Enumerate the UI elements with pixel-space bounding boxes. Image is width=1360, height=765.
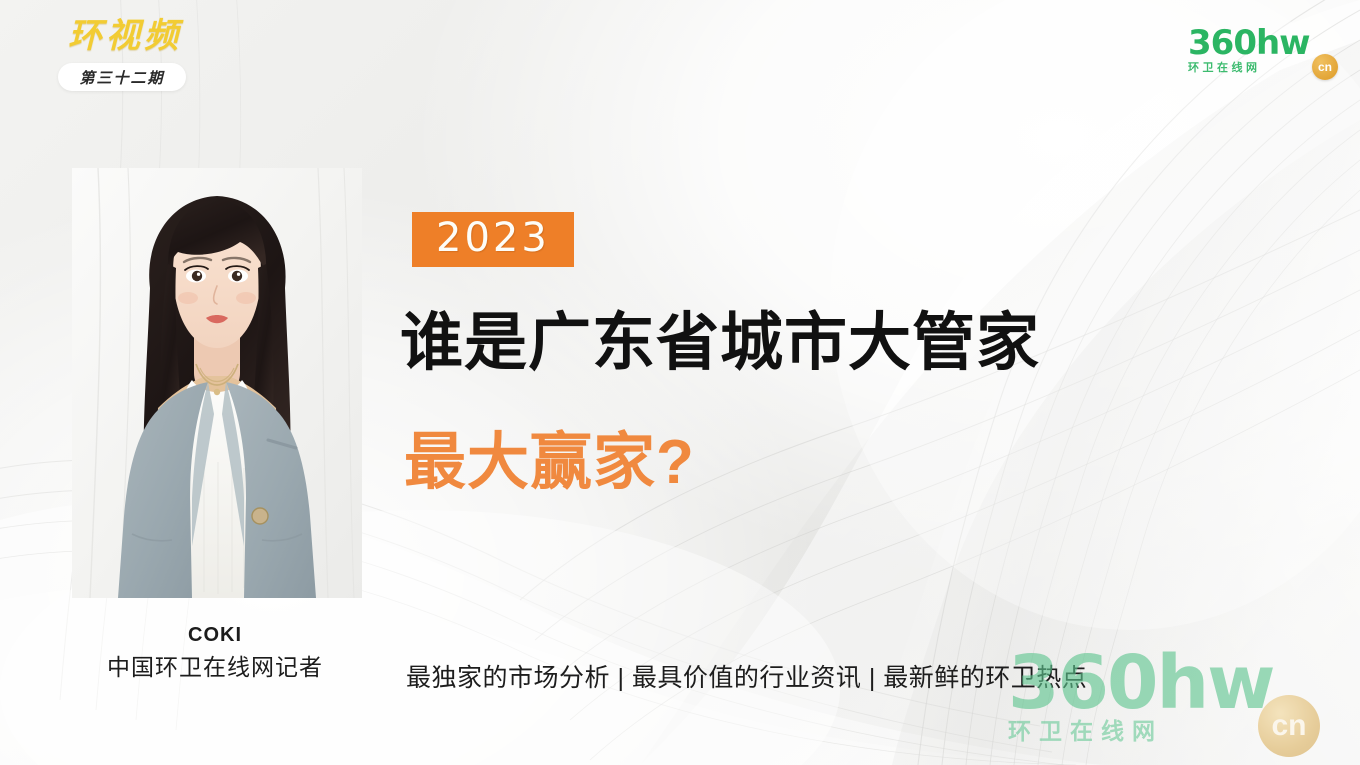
site-watermark-logo: 360hw 环卫在线网 cn bbox=[1008, 648, 1308, 743]
watermark-lockup: 360hw 环卫在线网 cn bbox=[1008, 648, 1308, 743]
brand-block: 环视频 第三十二期 bbox=[32, 18, 212, 91]
page-title: 谁是广东省城市大管家 bbox=[400, 308, 1040, 379]
episode-badge-label: 第三十二期 bbox=[79, 67, 164, 88]
page-subtitle: 最大赢家? bbox=[404, 428, 695, 497]
brand-title: 环视频 bbox=[32, 18, 212, 55]
presenter-role: 中国环卫在线网记者 bbox=[40, 651, 390, 683]
logo-wordmark: 360hw bbox=[1188, 26, 1334, 60]
presenter-caption: COKI 中国环卫在线网记者 bbox=[40, 622, 390, 683]
year-label: 2023 bbox=[436, 215, 550, 261]
site-logo-top-right[interactable]: 360hw 环卫在线网 cn bbox=[1188, 26, 1334, 74]
logo-lockup: 360hw 环卫在线网 cn bbox=[1188, 26, 1334, 74]
presenter-name: COKI bbox=[40, 622, 390, 649]
episode-badge: 第三十二期 bbox=[58, 63, 186, 91]
tagline: 最独家的市场分析 | 最具价值的行业资讯 | 最新鲜的环卫热点 bbox=[406, 658, 1087, 694]
presenter-photo bbox=[72, 168, 362, 598]
presenter-illustration bbox=[72, 168, 362, 598]
year-badge: 2023 bbox=[412, 212, 574, 267]
cn-domain-badge-icon: cn bbox=[1312, 54, 1338, 80]
video-thumbnail-slide: 环视频 第三十二期 360hw 环卫在线网 cn bbox=[0, 0, 1360, 765]
watermark-cn-domain-badge-icon: cn bbox=[1258, 695, 1320, 757]
